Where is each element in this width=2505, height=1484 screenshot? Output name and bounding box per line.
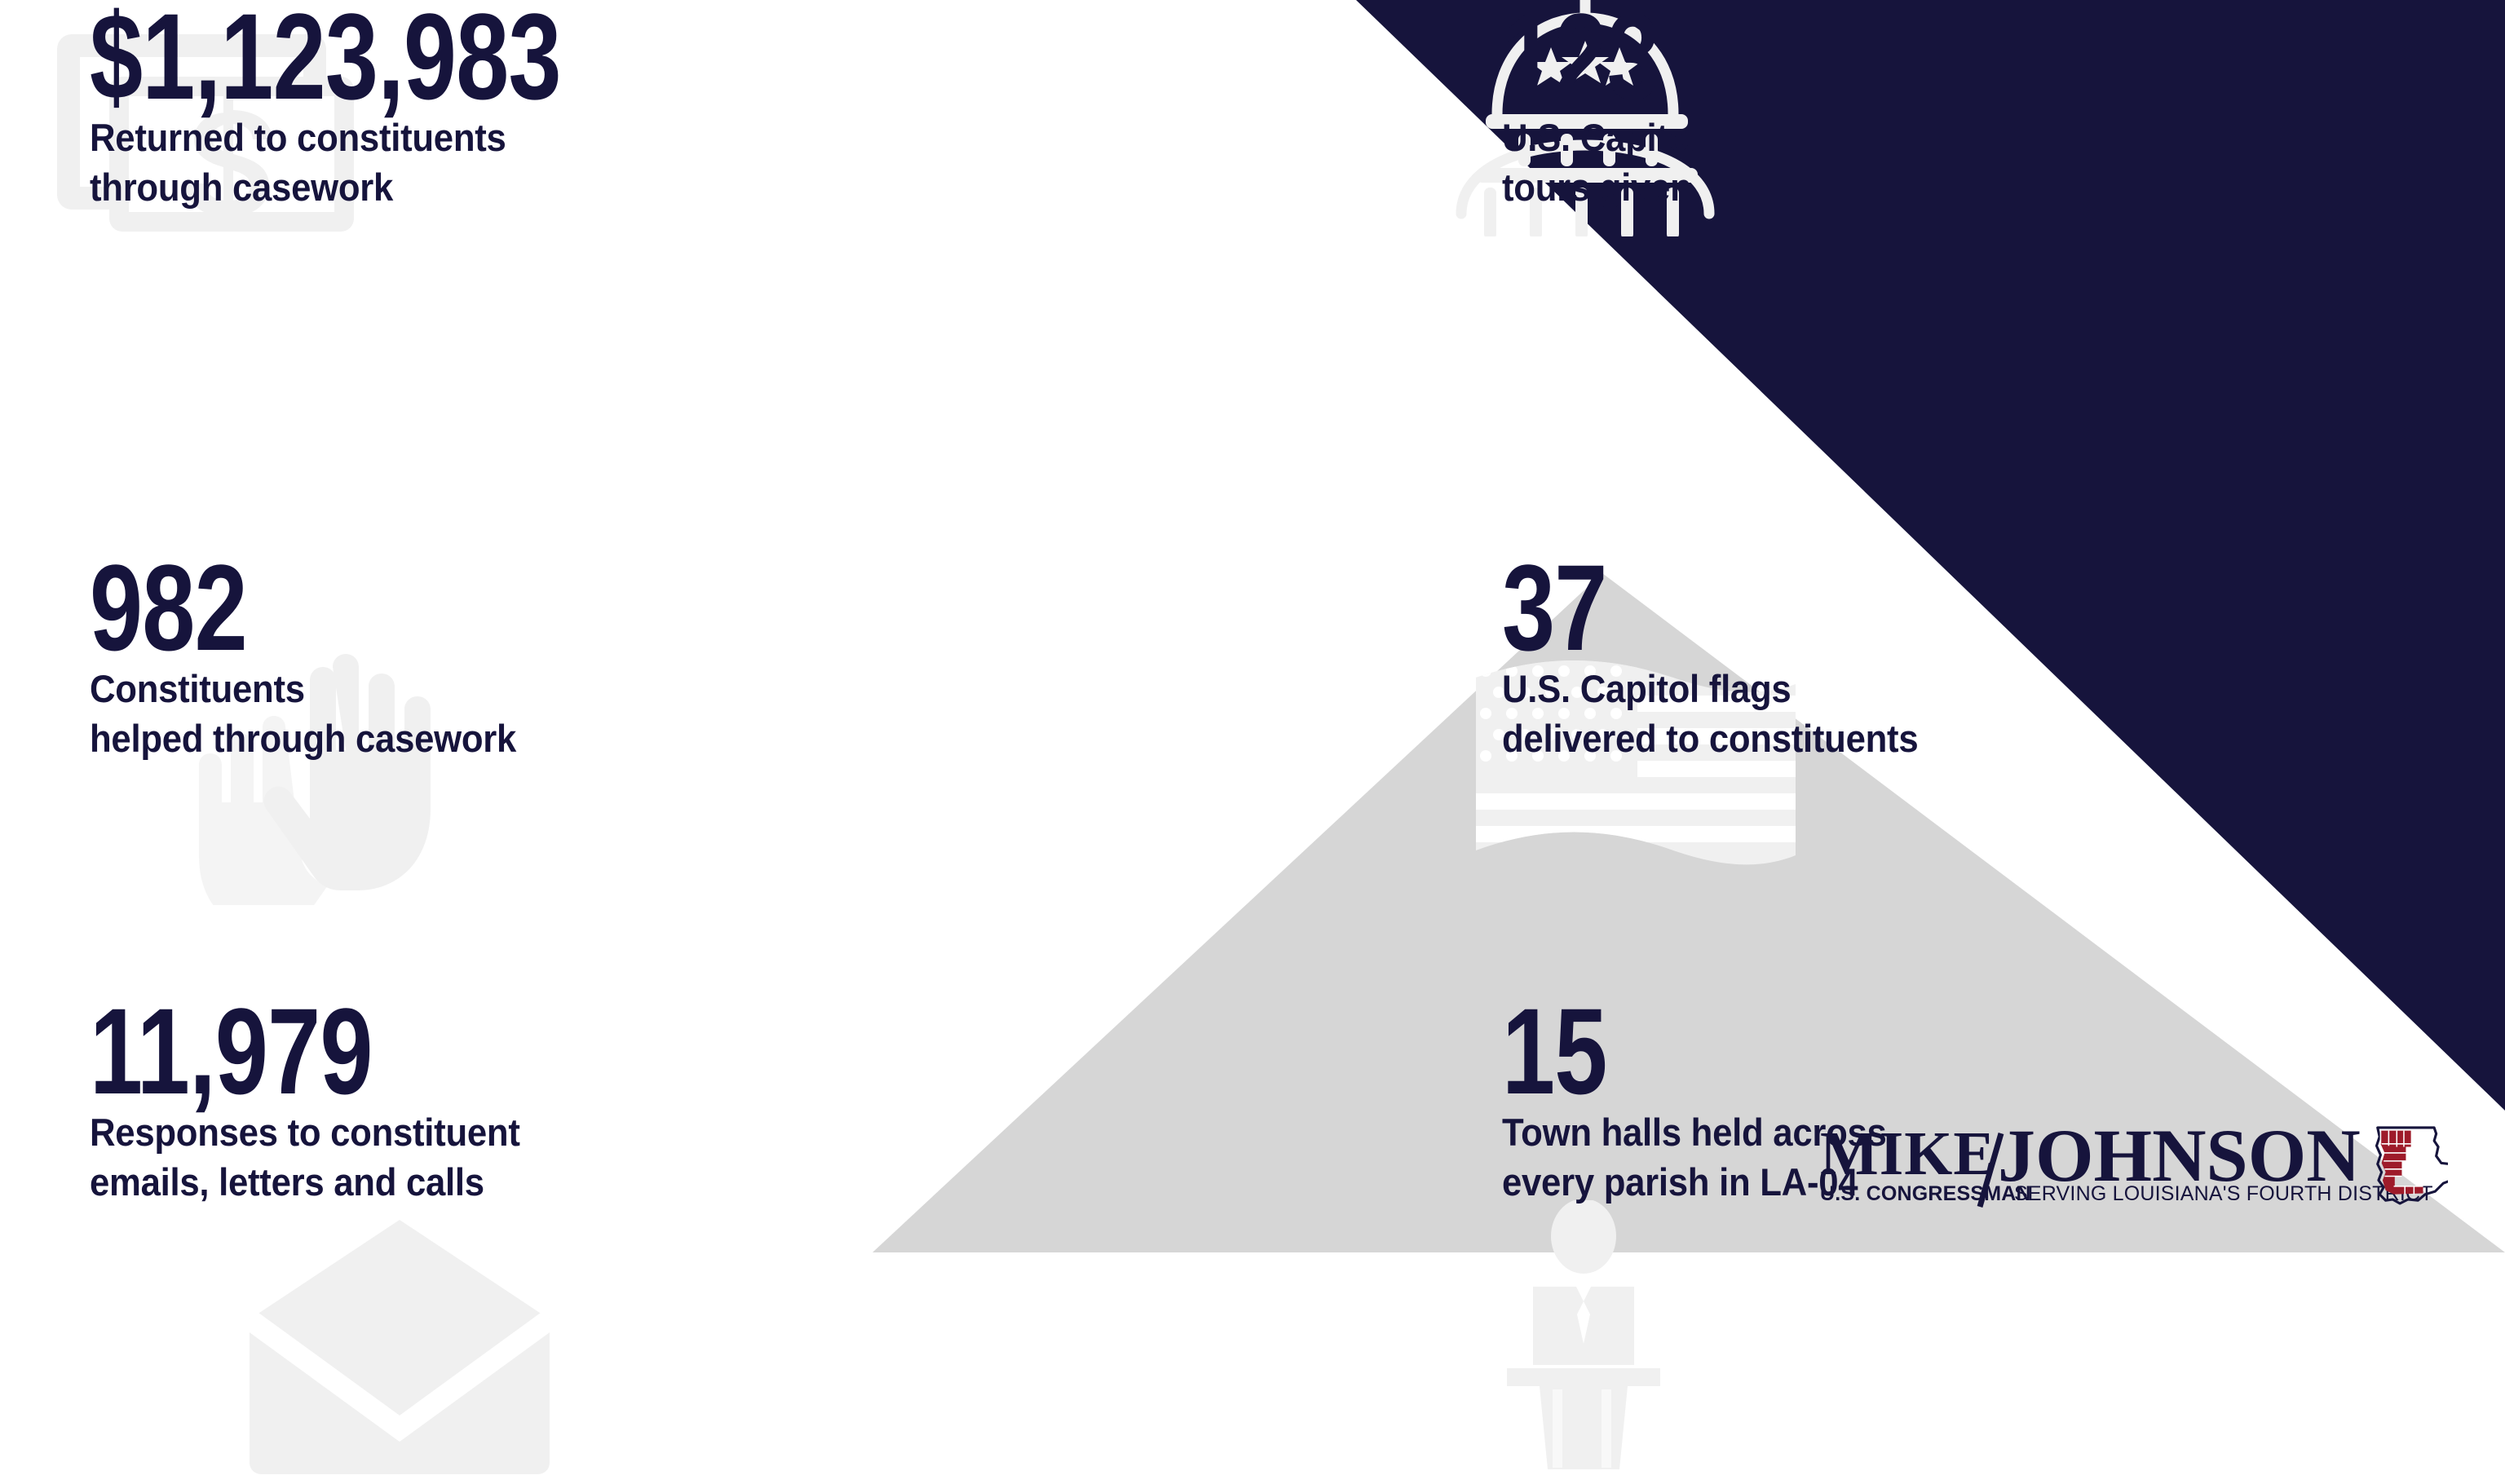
stat-label: U.S. Capitol tours given [1502, 113, 1774, 212]
envelope-icon [228, 1215, 571, 1484]
stat-content: 11,979 Responses to constituent emails, … [90, 999, 889, 1207]
mike-johnson-logo: MIKE JOHNSON U.S. CONGRESSMAN SERVING LO… [1820, 1111, 2448, 1217]
podium-speaker-icon [1478, 1200, 1690, 1469]
stat-card-constituents-helped: 982 Constituents helped through casework [0, 417, 889, 793]
stat-number: 123 [1502, 4, 1730, 109]
stat-number: 11,979 [90, 999, 713, 1104]
stat-label-line2: every parish in LA-04 [1502, 1157, 1774, 1207]
stat-content: 123 U.S. Capitol tours given [1502, 4, 1794, 212]
stat-label-line2: through casework [90, 162, 833, 212]
stat-label-line2: helped through casework [90, 713, 833, 763]
stat-card-capitol-tours: 123 U.S. Capitol tours given [889, 0, 1794, 417]
stat-label-line1: Responses to constituent [90, 1107, 833, 1157]
stat-number: 37 [1502, 555, 1730, 660]
stat-content: 982 Constituents helped through casework [90, 555, 889, 763]
stat-number: 982 [90, 555, 713, 660]
stat-label-line1: Returned to constituents [90, 113, 833, 162]
stat-card-capitol-flags: 37 U.S. Capitol flags delivered to const… [889, 417, 1794, 793]
stat-label: Town halls held across every parish in L… [1502, 1107, 1774, 1207]
stat-card-money-returned: $1,123,983 Returned to constituents thro… [0, 0, 889, 417]
logo-tagline: SERVING LOUISIANA'S FOURTH DISTRICT [2014, 1182, 2433, 1205]
stat-label: U.S. Capitol flags delivered to constitu… [1502, 664, 1774, 763]
stat-card-town-halls: 15 Town halls held across every parish i… [889, 793, 1794, 1252]
logo-first-name: MIKE [1820, 1120, 1995, 1188]
stat-number: $1,123,983 [90, 4, 713, 109]
stat-label-line2: tours given [1502, 162, 1774, 212]
stat-card-constituent-responses: 11,979 Responses to constituent emails, … [0, 793, 889, 1252]
stat-label: Responses to constituent emails, letters… [90, 1107, 833, 1207]
stat-content: 37 U.S. Capitol flags delivered to const… [1502, 555, 1794, 763]
stat-label-line1: Town halls held across [1502, 1107, 1774, 1157]
stat-label-line1: Constituents [90, 664, 833, 713]
stats-grid: $1,123,983 Returned to constituents thro… [0, 0, 1794, 1252]
stat-content: 15 Town halls held across every parish i… [1502, 999, 1794, 1207]
stat-label: Returned to constituents through casewor… [90, 113, 833, 212]
stat-label-line2: delivered to constituents [1502, 713, 1774, 763]
stat-content: $1,123,983 Returned to constituents thro… [90, 4, 889, 212]
stat-number: 15 [1502, 999, 1730, 1104]
stat-label: Constituents helped through casework [90, 664, 833, 763]
stat-label-line1: U.S. Capitol [1502, 113, 1774, 162]
stat-label-line2: emails, letters and calls [90, 1157, 833, 1207]
logo-congressman-title: U.S. CONGRESSMAN [1820, 1182, 2031, 1205]
logo-svg: MIKE JOHNSON U.S. CONGRESSMAN SERVING LO… [1820, 1111, 2448, 1217]
stat-label-line1: U.S. Capitol flags [1502, 664, 1774, 713]
